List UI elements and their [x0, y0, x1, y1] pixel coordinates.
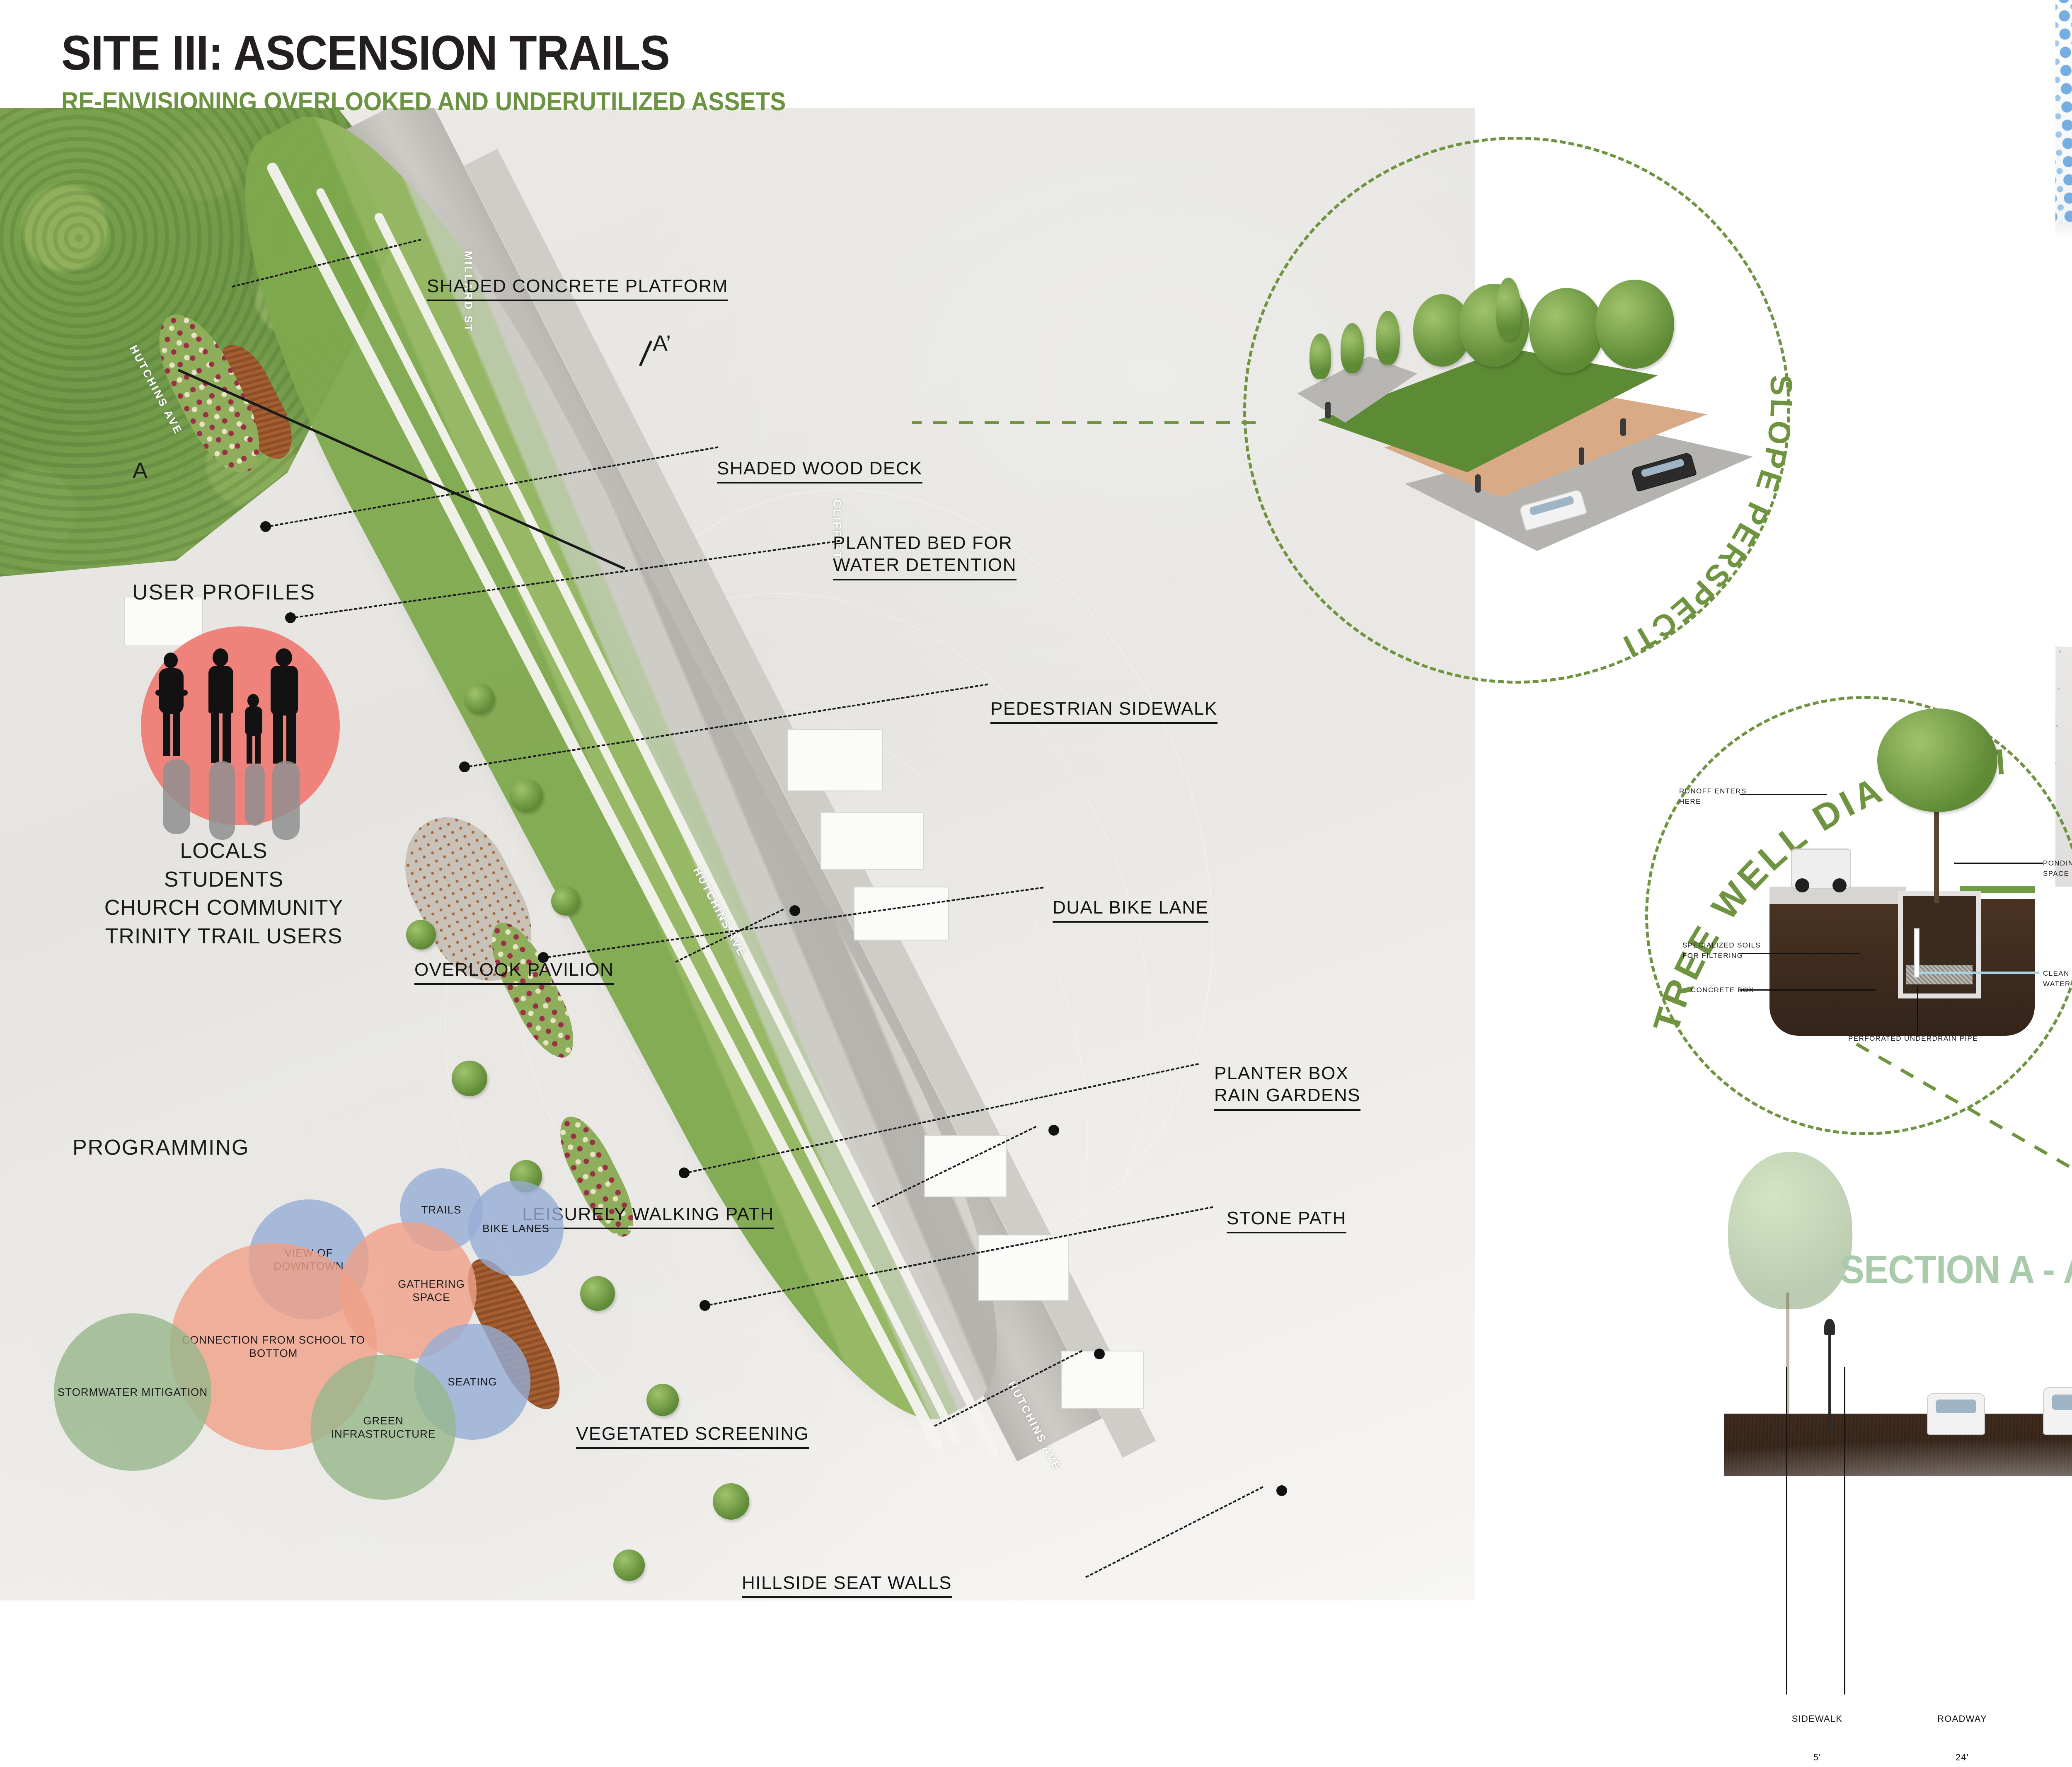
dimension-label-sidewalk-5: SIDEWALK 5' [1782, 1690, 1852, 1767]
tree-well-callout: TREE WELL DIAGRAM RUNOFF ENTERS HERE SPE… [1645, 696, 2072, 1135]
title-block: SITE III: ASCENSION TRAILS RE-ENVISIONIN… [61, 25, 849, 116]
perspective-tree [1310, 334, 1331, 379]
tree-well-label-underdrain: PERFORATED UNDERDRAIN PIPE [1848, 1034, 1978, 1044]
building-footprint [1061, 1351, 1144, 1409]
perspective-tree [1376, 311, 1400, 365]
perforated-canopy [2055, 0, 2072, 224]
plan-label-planted-bed-water-detention: PLANTED BED FOR WATER DETENTION [833, 510, 1017, 580]
dimension-tick [1844, 1367, 1845, 1694]
street-tree [551, 887, 580, 916]
building-footprint [821, 812, 924, 870]
section-streetlight-head [1824, 1319, 1835, 1335]
child-silhouette [247, 735, 252, 764]
page-subtitle: RE-ENVISIONING OVERLOOKED AND UNDERUTILI… [61, 87, 786, 116]
plan-label-vegetated-screening: VEGETATED SCREENING [576, 1400, 809, 1449]
cyclist-silhouette [155, 690, 188, 696]
perspective-tree [1496, 278, 1521, 340]
section-earth-mass [1724, 1368, 2072, 1476]
user-profiles-panel: USER PROFILES LOCALS STUDENTS CHURCH COM… [62, 580, 477, 605]
leader-dot [789, 905, 800, 916]
street-tree [510, 779, 543, 812]
section-marker-a: A [133, 458, 148, 483]
section-truck [2043, 1387, 2072, 1435]
tree-well-leader [1740, 794, 1827, 795]
section-car [1927, 1393, 1985, 1435]
street-tree [713, 1483, 749, 1520]
child-silhouette [247, 694, 259, 707]
adult-silhouette [271, 666, 298, 716]
programming-heading: PROGRAMMING [73, 1135, 572, 1160]
user-profiles-heading: USER PROFILES [62, 580, 385, 605]
dimension-label-roadway-24: ROADWAY 24' [1923, 1690, 2002, 1767]
tree-well-leader [1740, 953, 1860, 954]
user-silhouettes [151, 648, 329, 789]
leader-dot [459, 761, 470, 772]
plan-label-stone-path: STONE PATH [1227, 1185, 1346, 1233]
perspective-person [1475, 474, 1481, 493]
plan-label-hillside-seat-walls: HILLSIDE SEAT WALLS [742, 1549, 952, 1598]
perspective-person [1579, 447, 1584, 465]
section-drawing: SECTION A - A’ SIDEWALK 5' ROADWAY [1720, 1077, 2072, 1600]
user-profiles-list: LOCALS STUDENTS CHURCH COMMUNITY TRINITY… [62, 837, 385, 951]
leader-dot [260, 521, 271, 532]
adult-silhouette [273, 714, 283, 764]
tree-well-title: TREE WELL DIAGRAM [1484, 530, 2072, 1152]
tree-well-leader [1740, 989, 1876, 991]
dimension-name: SIDEWALK [1792, 1714, 1842, 1724]
adult-silhouette [211, 711, 219, 763]
slope-perspective-render [1280, 244, 1753, 576]
plan-label-overlook-pavilion: OVERLOOK PAVILION [414, 936, 614, 985]
leader-dot [1276, 1485, 1287, 1496]
tree-well-label-ponding: PONDING SPACE [2043, 858, 2072, 879]
adult-silhouette [223, 711, 231, 763]
programming-bubble-stormwater: STORMWATER MITIGATION [54, 1313, 211, 1471]
tree-well-leader [1917, 986, 1918, 1036]
page-title: SITE III: ASCENSION TRAILS [61, 25, 786, 81]
plan-label-shaded-concrete-platform: SHADED CONCRETE PLATFORM [427, 253, 728, 301]
section-marker-a-prime: A’ [653, 331, 671, 356]
dimension-value: 5' [1813, 1752, 1821, 1762]
programming-bubble-green-infrastructure: GREEN INFRASTRUCTURE [311, 1355, 456, 1500]
tree-well-label-runoff: RUNOFF ENTERS HERE [1679, 786, 1747, 807]
adult-silhouette [208, 666, 233, 713]
section-title: SECTION A - A’ [1840, 1247, 2072, 1293]
street-tree [580, 1276, 615, 1311]
figure-shadow [272, 761, 300, 840]
perspective-person [1620, 418, 1626, 436]
section-streetlight-pole [1828, 1330, 1831, 1434]
tree-well-leader [1954, 863, 2043, 864]
user-profile-item: LOCALS [62, 837, 385, 865]
leader-dot [679, 1168, 690, 1178]
street-tree [613, 1549, 645, 1581]
building-footprint [854, 887, 949, 940]
user-profile-item: CHURCH COMMUNITY [62, 894, 385, 922]
tree-well-clean-water-arrow [1919, 972, 2039, 974]
user-profile-item: TRINITY TRAIL USERS [62, 922, 385, 951]
street-tree [452, 1061, 487, 1096]
perspective-tree [1529, 288, 1604, 373]
tree-well-label-clean-water: CLEAN WATER [2043, 969, 2072, 989]
programming-bubble-bike-lanes: BIKE LANES [468, 1181, 564, 1276]
dimension-tick [1786, 1367, 1787, 1694]
tree-well-canopy [1877, 708, 1997, 812]
cyclist-silhouette [173, 713, 180, 756]
figure-shadow [163, 759, 190, 834]
perspective-tree [1595, 280, 1674, 369]
adult-silhouette [213, 648, 228, 667]
leader-dot [700, 1300, 710, 1311]
tree-well-vehicle-wheel [1795, 878, 1809, 892]
leader-dot [1048, 1125, 1059, 1136]
section-tree-background [1728, 1152, 1852, 1309]
child-silhouette [245, 706, 262, 736]
plan-label-shaded-wood-deck: SHADED WOOD DECK [717, 435, 922, 483]
dimension-name: ROADWAY [1937, 1714, 1987, 1724]
cyclist-silhouette [164, 653, 178, 668]
plan-label-pedestrian-sidewalk: PEDESTRIAN SIDEWALK [990, 675, 1218, 724]
child-silhouette [255, 735, 261, 764]
leader-dot [1094, 1349, 1105, 1359]
tree-well-vehicle-wheel [1832, 878, 1847, 892]
user-profile-item: STUDENTS [62, 865, 385, 894]
cyclist-silhouette [163, 713, 170, 756]
building-footprint [924, 1135, 1007, 1197]
plan-label-planter-box-rain-gardens: PLANTER BOX RAIN GARDENS [1214, 1040, 1360, 1111]
dimension-value: 24' [1956, 1752, 1969, 1762]
programming-panel: PROGRAMMING TRAILS BIKE LANES VIEW OF DO… [50, 1135, 572, 1574]
building-footprint [787, 729, 883, 791]
adult-silhouette [276, 648, 292, 667]
tree-well-label-soils: SPECIALIZED SOILS FOR FILTERING [1682, 940, 1761, 961]
plan-label-dual-bike-lane: DUAL BIKE LANE [1053, 874, 1208, 923]
perspective-tree [1341, 323, 1364, 373]
perspective-person [1325, 402, 1331, 418]
tree-well-underdrain-pipe [1914, 928, 1920, 978]
leader-dot [285, 612, 296, 623]
figure-shadow [209, 761, 235, 840]
adult-silhouette [286, 714, 296, 764]
figure-shadow [245, 764, 265, 826]
street-tree [464, 684, 495, 714]
